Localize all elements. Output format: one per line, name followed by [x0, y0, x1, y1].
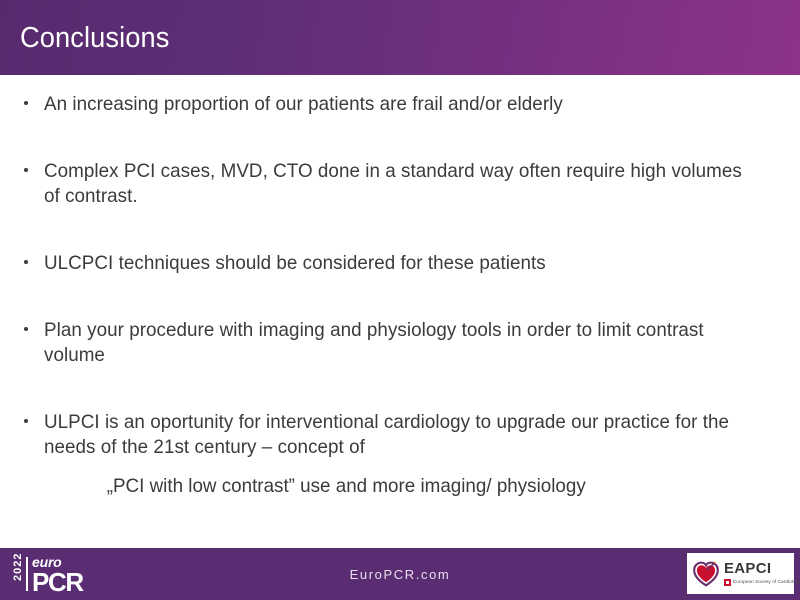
bullet-list: An increasing proportion of our patients… [0, 92, 800, 499]
bullet-point-icon [24, 419, 28, 423]
esc-society-label: European Society of Cardiology [733, 580, 800, 585]
list-item: Complex PCI cases, MVD, CTO done in a st… [0, 159, 800, 209]
bullet-text: ULCPCI techniques should be considered f… [44, 251, 745, 276]
list-item: ULCPCI techniques should be considered f… [0, 251, 800, 276]
bullet-point-icon [24, 101, 28, 105]
logo-divider [26, 557, 28, 591]
slide-footer: EuroPCR.com 2022 euro PCR EAPCI European… [0, 548, 800, 600]
heart-icon [692, 560, 720, 588]
bullet-point-icon [24, 327, 28, 331]
bullet-text: Complex PCI cases, MVD, CTO done in a st… [44, 159, 745, 209]
slide-body: An increasing proportion of our patients… [0, 75, 800, 548]
esc-sub-block: European Society of Cardiology [724, 579, 800, 586]
logo-pcr-text: PCR [32, 570, 83, 594]
slide: Conclusions An increasing proportion of … [0, 0, 800, 600]
bullet-text: An increasing proportion of our patients… [44, 92, 745, 117]
list-item: ULPCI is an oportunity for interventiona… [0, 410, 800, 499]
europcr-logo: 2022 euro PCR [11, 554, 83, 594]
esc-logo-icon [724, 579, 731, 586]
page-title: Conclusions [20, 21, 170, 55]
eapci-text-block: EAPCI European Society of Cardiology [724, 561, 800, 586]
footer-url: EuroPCR.com [0, 548, 800, 600]
bullet-text: ULPCI is an oportunity for interventiona… [44, 410, 745, 460]
bullet-point-icon [24, 260, 28, 264]
list-item: Plan your procedure with imaging and phy… [0, 318, 800, 368]
bullet-point-icon [24, 168, 28, 172]
bullet-text: Plan your procedure with imaging and phy… [44, 318, 745, 368]
list-item: An increasing proportion of our patients… [0, 92, 800, 117]
logo-wordmark: euro PCR [32, 555, 83, 594]
bullet-sub-line: „PCI with low contrast” use and more ima… [44, 474, 745, 499]
slide-header: Conclusions [0, 0, 800, 75]
eapci-name: EAPCI [724, 561, 800, 576]
logo-year: 2022 [12, 567, 24, 581]
eapci-logo: EAPCI European Society of Cardiology [687, 553, 794, 594]
